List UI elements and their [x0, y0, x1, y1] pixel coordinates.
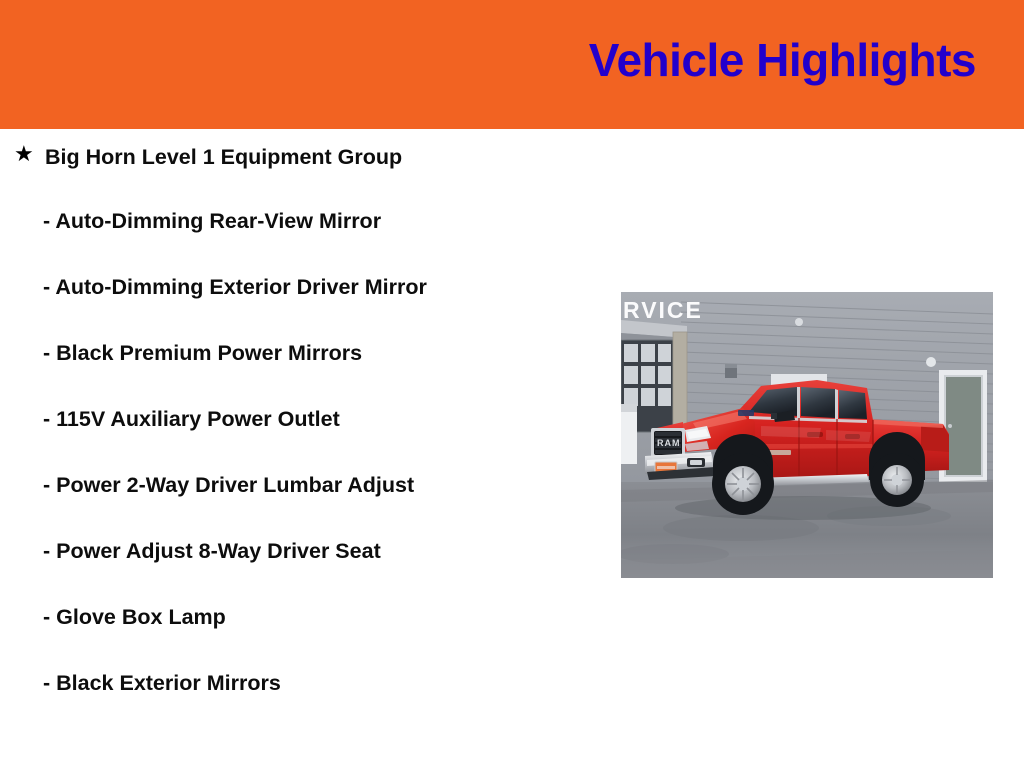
- list-item: - Auto-Dimming Exterior Driver Mirror: [43, 271, 518, 304]
- ram-badge-text: RAM: [657, 438, 681, 448]
- feature-group-label: Big Horn Level 1 Equipment Group: [45, 145, 402, 169]
- list-item: - Power 2-Way Driver Lumbar Adjust: [43, 469, 518, 502]
- feature-group: ★ Big Horn Level 1 Equipment Group: [0, 143, 600, 171]
- list-item: - Black Exterior Mirrors: [43, 667, 518, 700]
- list-item: - Glove Box Lamp: [43, 601, 518, 634]
- feature-list: ★ Big Horn Level 1 Equipment Group - Aut…: [0, 143, 600, 700]
- slide-header-band: Vehicle Highlights: [0, 0, 1024, 129]
- vehicle-photo: RVICE: [621, 292, 993, 578]
- service-sign-text: RVICE: [623, 297, 703, 323]
- slide-content: ★ Big Horn Level 1 Equipment Group - Aut…: [0, 129, 1024, 768]
- star-icon: ★: [14, 140, 34, 168]
- list-item: - Power Adjust 8-Way Driver Seat: [43, 535, 518, 568]
- vehicle-photo-illustration: RVICE: [621, 292, 993, 578]
- list-item: - Black Premium Power Mirrors: [43, 337, 518, 370]
- list-item: - 115V Auxiliary Power Outlet: [43, 403, 518, 436]
- page-title: Vehicle Highlights: [589, 36, 976, 84]
- list-item: - Auto-Dimming Rear-View Mirror: [43, 205, 518, 238]
